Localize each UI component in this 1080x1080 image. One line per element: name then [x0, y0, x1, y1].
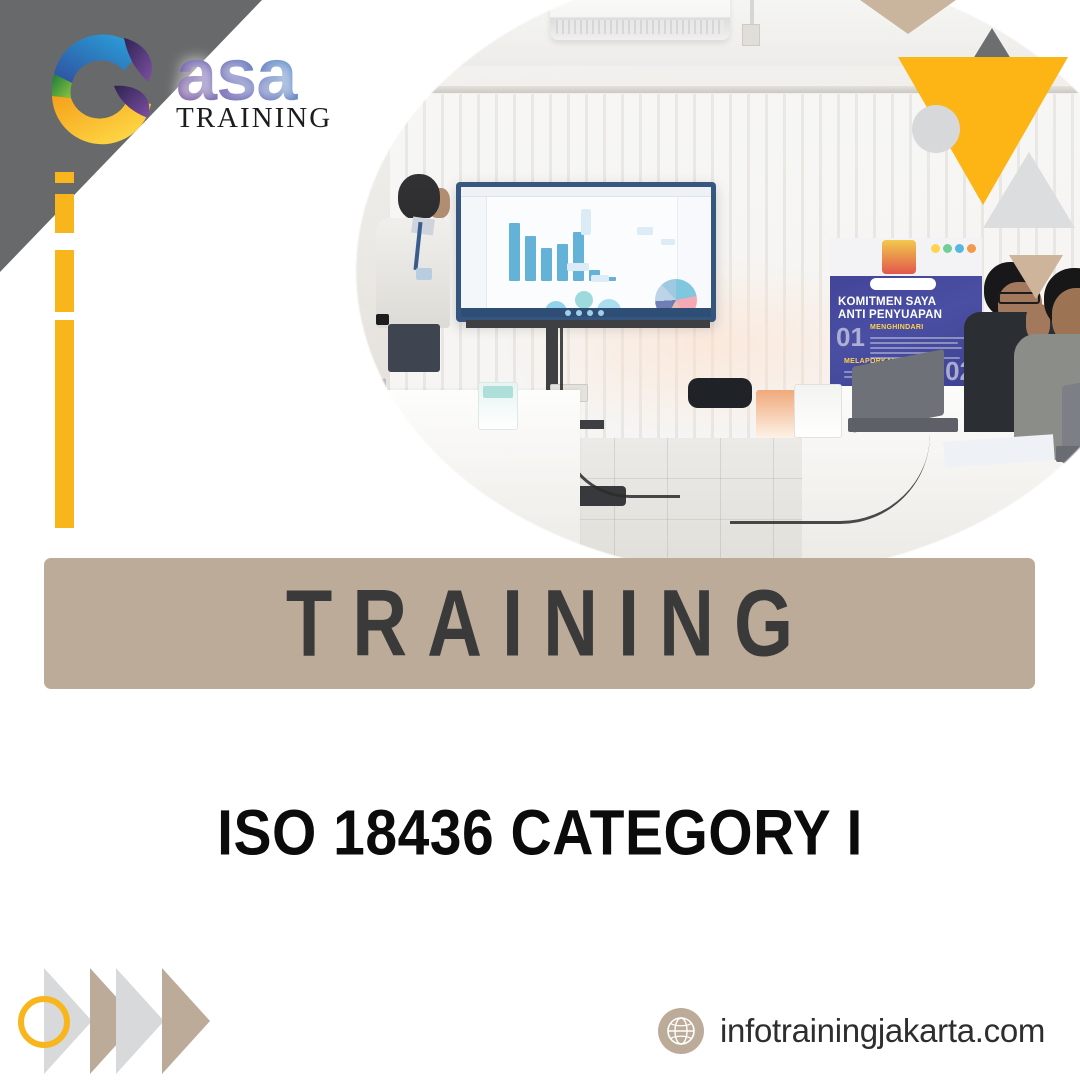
yellow-bar-3: [55, 250, 74, 312]
logo-tagline: TRAINING: [176, 102, 332, 135]
footer-website[interactable]: infotrainingjakarta.com: [658, 1008, 1045, 1054]
yellow-bar-1: [55, 172, 74, 183]
orange-circle-outline-icon: [18, 996, 70, 1048]
banner-title: TRAINING: [266, 569, 813, 678]
chevron-arrow-icon: [116, 968, 164, 1074]
poster-canvas: KOMITMEN SAYA ANTI PENYUAPAN 01 MENGHIND…: [0, 0, 1080, 1080]
training-banner: TRAINING: [44, 558, 1035, 689]
yellow-bar-4: [55, 320, 74, 528]
yellow-bar-2: [55, 194, 74, 233]
course-title: ISO 18436 CATEGORY I: [0, 796, 1080, 870]
tan-triangle-down-icon: [1009, 255, 1063, 299]
chevron-arrow-icon: [162, 968, 210, 1074]
casa-circle-logo-icon: [36, 18, 172, 154]
globe-icon: [658, 1008, 704, 1054]
white-triangle-up-icon: [983, 152, 1075, 228]
brand-logo: asa TRAINING: [36, 18, 356, 168]
website-url: infotrainingjakarta.com: [720, 1012, 1045, 1050]
chevron-arrows-group: [18, 968, 208, 1074]
gray-circle-icon: [912, 105, 960, 153]
logo-wordmark: asa: [176, 44, 332, 106]
